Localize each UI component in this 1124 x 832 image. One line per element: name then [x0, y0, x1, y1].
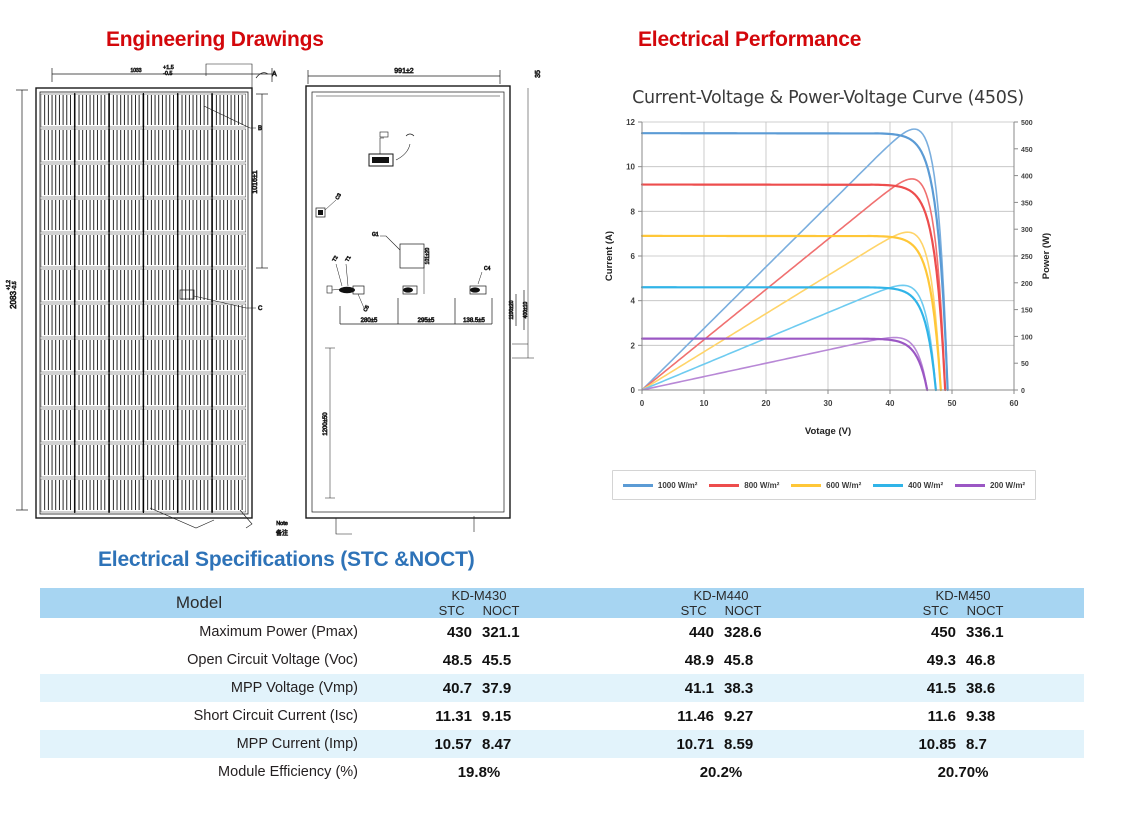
table-row: Open Circuit Voltage (Voc)48.545.548.945… [40, 646, 1084, 674]
table-row: MPP Current (Imp)10.578.4710.718.5910.85… [40, 730, 1084, 758]
back-box-dimension: 101±20 [425, 247, 431, 264]
cell-model-1: 20.2% [600, 758, 842, 786]
svg-text:450: 450 [1021, 147, 1033, 154]
svg-text:0: 0 [640, 399, 645, 408]
cell-noct-value: 46.8 [956, 652, 1012, 669]
legend-label: 200 W/m² [990, 481, 1025, 490]
legend-item-1: 800 W/m² [709, 481, 779, 490]
cell-stc-value: 49.3 [914, 652, 956, 669]
back-width-dimension: 991±2 [394, 68, 414, 75]
chart-y2label: Power (W) [1041, 233, 1052, 279]
back-dimension-2: 295±5 [418, 318, 435, 324]
svg-text:8: 8 [631, 207, 636, 216]
cell-model-0: 48.545.5 [358, 646, 600, 674]
svg-text:400: 400 [1021, 174, 1033, 181]
detail-a-label: A [272, 71, 277, 78]
cell-model-2: 20.70% [842, 758, 1084, 786]
cell-model-2: 10.858.7 [842, 730, 1084, 758]
header-model-0: KD-M430 [358, 588, 600, 603]
row-parameter-label: Open Circuit Voltage (Voc) [40, 646, 358, 674]
header-conditions-2: STC NOCT [842, 603, 1084, 618]
cell-stc-value: 41.5 [914, 680, 956, 697]
header-stc-2: STC [923, 603, 949, 618]
chart-title: Current-Voltage & Power-Voltage Curve (4… [600, 88, 1056, 108]
engineering-drawings-figure: 1033 +1.5 -0.5 2083 +1.2 [0, 58, 580, 538]
back-dimension-1: 280±5 [361, 318, 378, 324]
legend-swatch-icon [623, 484, 653, 487]
svg-text:10: 10 [626, 163, 635, 172]
svg-text:300: 300 [1021, 227, 1033, 234]
header-model-label: Model [40, 588, 358, 618]
header-noct-1: NOCT [725, 603, 762, 618]
cell-model-2: 450336.1 [842, 618, 1084, 646]
chart-plot-area: 0246810120501001502002503003504004505000… [600, 112, 1056, 442]
svg-text:500: 500 [1021, 120, 1033, 127]
svg-text:4: 4 [631, 297, 636, 306]
cell-noct-value: 37.9 [472, 680, 528, 697]
chart-ylabel: Current (A) [604, 231, 615, 281]
front-inner-dimension: 1016±1 [252, 170, 259, 193]
cell-noct-value: 45.5 [472, 652, 528, 669]
table-header-row-models: Model KD-M430 KD-M440 KD-M450 [40, 588, 1084, 603]
svg-text:60: 60 [1010, 399, 1019, 408]
cell-stc-value: 48.9 [672, 652, 714, 669]
cell-model-1: 440328.6 [600, 618, 842, 646]
row-parameter-label: Maximum Power (Pmax) [40, 618, 358, 646]
cell-noct-value: 321.1 [472, 624, 528, 641]
cell-model-1: 10.718.59 [600, 730, 842, 758]
cell-stc-value: 450 [914, 624, 956, 641]
drawing-note-en: Note [276, 521, 288, 527]
front-width-dimension: 1033 [130, 68, 141, 74]
cell-stc-value: 10.57 [430, 736, 472, 753]
cell-noct-value: 336.1 [956, 624, 1012, 641]
cell-noct-value: 9.15 [472, 708, 528, 725]
header-noct-2: NOCT [967, 603, 1004, 618]
legend-item-2: 600 W/m² [791, 481, 861, 490]
cell-noct-value: 8.7 [956, 736, 1012, 753]
header-stc-0: STC [439, 603, 465, 618]
header-noct-0: NOCT [483, 603, 520, 618]
cell-noct-value: 8.47 [472, 736, 528, 753]
cell-model-2: 11.69.38 [842, 702, 1084, 730]
chart-xlabel: Votage (V) [805, 426, 851, 437]
table-row: Short Circuit Current (Isc)11.319.1511.4… [40, 702, 1084, 730]
cell-stc-value: 11.46 [672, 708, 714, 725]
electrical-specifications-title: Electrical Specifications (STC &NOCT) [98, 548, 475, 572]
cell-model-0: 19.8% [358, 758, 600, 786]
row-parameter-label: MPP Voltage (Vmp) [40, 674, 358, 702]
svg-text:12: 12 [626, 118, 635, 127]
svg-text:150: 150 [1021, 308, 1033, 315]
row-parameter-label: Short Circuit Current (Isc) [40, 702, 358, 730]
legend-item-3: 400 W/m² [873, 481, 943, 490]
back-dimension-3: 138.5±5 [463, 318, 485, 324]
legend-label: 600 W/m² [826, 481, 861, 490]
header-stc-1: STC [681, 603, 707, 618]
legend-label: 1000 W/m² [658, 481, 698, 490]
cell-stc-value: 48.5 [430, 652, 472, 669]
legend-swatch-icon [709, 484, 739, 487]
row-parameter-label: Module Efficiency (%) [40, 758, 358, 786]
drawings-svg: 1033 +1.5 -0.5 2083 +1.2 [0, 58, 580, 538]
svg-text:10: 10 [700, 399, 709, 408]
legend-label: 800 W/m² [744, 481, 779, 490]
header-conditions-0: STC NOCT [358, 603, 600, 618]
legend-item-4: 200 W/m² [955, 481, 1025, 490]
cell-noct-value: 45.8 [714, 652, 770, 669]
cell-model-0: 10.578.47 [358, 730, 600, 758]
svg-text:50: 50 [948, 399, 957, 408]
svg-text:30: 30 [824, 399, 833, 408]
cell-model-0: 430321.1 [358, 618, 600, 646]
svg-text:100: 100 [1021, 334, 1033, 341]
table-body: Maximum Power (Pmax)430321.1440328.64503… [40, 618, 1084, 786]
cell-stc-value: 11.6 [914, 708, 956, 725]
cell-noct-value: 9.38 [956, 708, 1012, 725]
svg-text:250: 250 [1021, 254, 1033, 261]
cell-noct-value: 38.3 [714, 680, 770, 697]
svg-text:2: 2 [631, 341, 636, 350]
table-row: Module Efficiency (%)19.8%20.2%20.70% [40, 758, 1084, 786]
cell-model-2: 41.538.6 [842, 674, 1084, 702]
cell-model-1: 48.945.8 [600, 646, 842, 674]
detail-b-label: B [258, 126, 262, 132]
cell-noct-value: 328.6 [714, 624, 770, 641]
legend-item-0: 1000 W/m² [623, 481, 698, 490]
chart-legend: 1000 W/m²800 W/m²600 W/m²400 W/m²200 W/m… [612, 470, 1036, 500]
front-height-tol-dn: -0.5 [12, 281, 18, 290]
table-row: Maximum Power (Pmax)430321.1440328.64503… [40, 618, 1084, 646]
cell-noct-value: 8.59 [714, 736, 770, 753]
drawing-note-cn: 备注 [276, 529, 288, 537]
cell-stc-value: 430 [430, 624, 472, 641]
legend-label: 400 W/m² [908, 481, 943, 490]
row-parameter-label: MPP Current (Imp) [40, 730, 358, 758]
cell-stc-value: 10.71 [672, 736, 714, 753]
label-g1: G1 [372, 232, 379, 238]
svg-text:20: 20 [762, 399, 771, 408]
cell-model-0: 11.319.15 [358, 702, 600, 730]
table-row: MPP Voltage (Vmp)40.737.941.138.341.538.… [40, 674, 1084, 702]
detail-c-label: C [258, 306, 263, 312]
header-conditions-1: STC NOCT [600, 603, 842, 618]
legend-swatch-icon [873, 484, 903, 487]
svg-text:0: 0 [631, 386, 636, 395]
legend-swatch-icon [955, 484, 985, 487]
cell-stc-value: 40.7 [430, 680, 472, 697]
back-thickness-dimension: 35 [535, 70, 542, 78]
front-height-dimension: 2083 [9, 291, 18, 309]
back-right-dimension-1: 1100±20 [509, 300, 515, 319]
cell-stc-value: 440 [672, 624, 714, 641]
iv-pv-curve-chart: Current-Voltage & Power-Voltage Curve (4… [600, 88, 1056, 508]
cell-stc-value: 41.1 [672, 680, 714, 697]
cell-model-2: 49.346.8 [842, 646, 1084, 674]
cell-model-1: 11.469.27 [600, 702, 842, 730]
electrical-performance-title: Electrical Performance [638, 28, 861, 52]
table-header: Model KD-M430 KD-M440 KD-M450 STC NOCT S… [40, 588, 1084, 618]
cell-noct-value: 9.27 [714, 708, 770, 725]
svg-text:200: 200 [1021, 281, 1033, 288]
svg-text:350: 350 [1021, 200, 1033, 207]
cell-model-0: 40.737.9 [358, 674, 600, 702]
header-model-2: KD-M450 [842, 588, 1084, 603]
svg-text:50: 50 [1021, 361, 1029, 368]
legend-swatch-icon [791, 484, 821, 487]
cell-stc-value: 10.85 [914, 736, 956, 753]
engineering-drawings-title: Engineering Drawings [106, 28, 324, 52]
cell-noct-value: 38.6 [956, 680, 1012, 697]
electrical-specifications-table: Model KD-M430 KD-M440 KD-M450 STC NOCT S… [40, 588, 1084, 786]
back-long-dimension: 1200±50 [323, 412, 329, 436]
svg-text:0: 0 [1021, 388, 1025, 395]
cell-stc-value: 11.31 [430, 708, 472, 725]
svg-text:40: 40 [886, 399, 895, 408]
header-model-1: KD-M440 [600, 588, 842, 603]
cell-model-1: 41.138.3 [600, 674, 842, 702]
front-width-tol-dn: -0.5 [163, 71, 172, 77]
svg-text:6: 6 [631, 252, 636, 261]
datasheet-page: Engineering Drawings Electrical Performa… [0, 0, 1124, 832]
label-c4: C4 [484, 266, 491, 272]
